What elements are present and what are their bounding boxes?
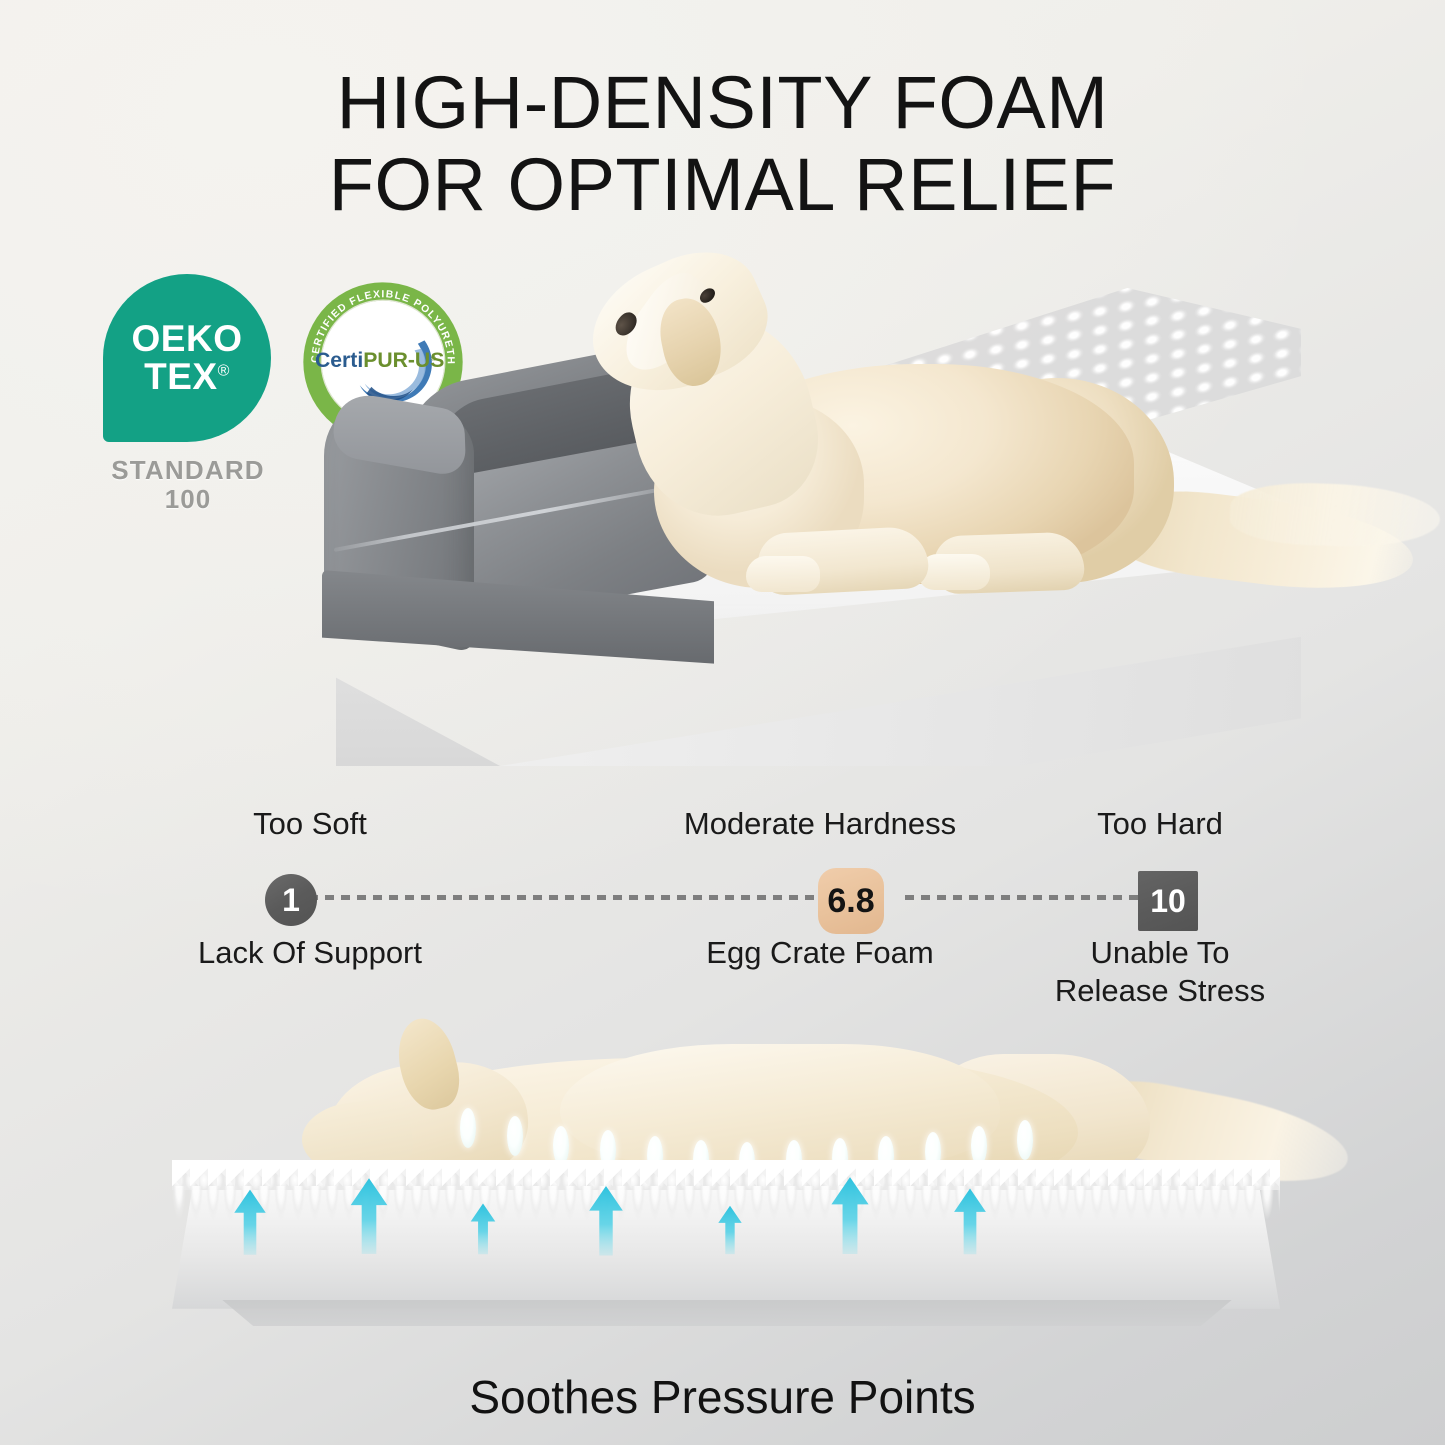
scale-top-label-soft: Too Soft <box>160 806 460 842</box>
scale-bottom-label-hard: Unable To Release Stress <box>1010 934 1310 1010</box>
hardness-scale: Too Soft Moderate Hardness Too Hard 1 6.… <box>0 806 1445 1006</box>
oeko-line-1: OEKO <box>132 320 243 357</box>
spine-marker <box>1017 1120 1033 1160</box>
headline-line-2: FOR OPTIMAL RELIEF <box>0 144 1445 226</box>
oeko-standard-label: STANDARD 100 <box>103 456 273 514</box>
track-dashes-left <box>293 895 833 900</box>
scale-bottom-label-hard-line-1: Unable To <box>1010 934 1310 972</box>
oeko-tex-badge: OEKO TEX® STANDARD 100 <box>103 274 273 514</box>
scale-marker-6-8[interactable]: 6.8 <box>818 868 884 934</box>
pressure-relief-illustration <box>150 1000 1300 1350</box>
registered-mark: ® <box>218 362 230 379</box>
dog-front-paw <box>746 556 820 592</box>
scale-top-label-hard: Too Hard <box>1010 806 1310 842</box>
scale-marker-1[interactable]: 1 <box>265 874 317 926</box>
hardness-track: 1 6.8 10 <box>265 874 1185 920</box>
scale-bottom-label-moderate: Egg Crate Foam <box>670 934 970 972</box>
dog-sitting-on-bed <box>514 248 1314 668</box>
lower-foam-shadow <box>212 1300 1242 1326</box>
oeko-line-2: TEX® <box>144 357 230 397</box>
oeko-standard-line-2: 100 <box>103 485 273 514</box>
scale-bottom-label-soft: Lack Of Support <box>160 934 460 972</box>
headline-line-1: HIGH-DENSITY FOAM <box>337 61 1109 144</box>
product-hero-image <box>318 248 1318 793</box>
track-dashes-right <box>905 895 1155 900</box>
scale-top-label-moderate: Moderate Hardness <box>670 806 970 842</box>
dog-back-paw <box>918 554 990 590</box>
page-title: HIGH-DENSITY FOAM FOR OPTIMAL RELIEF <box>0 62 1445 226</box>
oeko-tex-droplet-icon: OEKO TEX® <box>103 274 271 442</box>
scale-marker-10[interactable]: 10 <box>1138 871 1198 931</box>
bottom-caption: Soothes Pressure Points <box>0 1370 1445 1424</box>
spine-marker <box>460 1108 476 1148</box>
lower-foam-spikes <box>172 1186 1280 1266</box>
infographic-root: HIGH-DENSITY FOAM FOR OPTIMAL RELIEF OEK… <box>0 0 1445 1445</box>
oeko-standard-line-1: STANDARD <box>103 456 273 485</box>
spine-marker <box>507 1116 523 1156</box>
